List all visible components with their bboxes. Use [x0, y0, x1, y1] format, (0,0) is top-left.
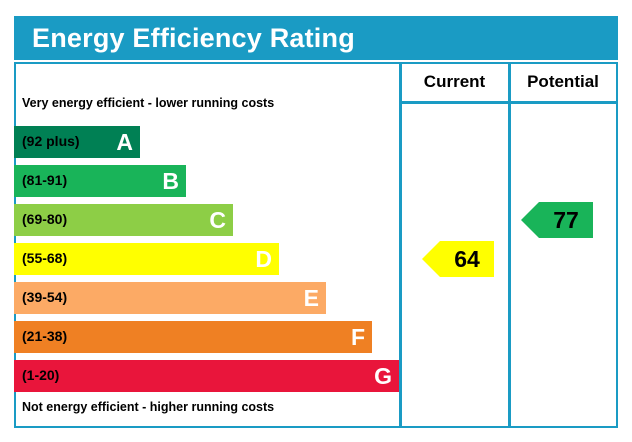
potential-rating-marker: 77 [521, 202, 593, 238]
band-letter-c: C [209, 205, 226, 235]
chart-title-bar: Energy Efficiency Rating [14, 16, 618, 60]
band-row-a: (92 plus) A [14, 126, 140, 158]
potential-rating-value: 77 [539, 202, 593, 238]
column-header-divider [399, 101, 618, 104]
energy-efficiency-rating-chart: Energy Efficiency Rating Current Potenti… [0, 0, 632, 442]
column-divider-current [399, 62, 402, 428]
band-range-c: (69-80) [22, 211, 67, 227]
column-header-current: Current [401, 72, 508, 92]
current-marker-arrow-icon [422, 241, 440, 277]
band-range-e: (39-54) [22, 289, 67, 305]
band-range-f: (21-38) [22, 328, 67, 344]
caption-top: Very energy efficient - lower running co… [22, 96, 274, 110]
band-range-b: (81-91) [22, 172, 67, 188]
band-row-d: (55-68) D [14, 243, 279, 275]
band-letter-f: F [351, 322, 365, 352]
column-divider-potential [508, 62, 511, 428]
band-row-e: (39-54) E [14, 282, 326, 314]
potential-marker-arrow-icon [521, 202, 539, 238]
column-header-potential: Potential [510, 72, 616, 92]
band-row-f: (21-38) F [14, 321, 372, 353]
band-range-g: (1-20) [22, 367, 59, 383]
band-range-d: (55-68) [22, 250, 67, 266]
page-title: Energy Efficiency Rating [32, 22, 355, 54]
band-row-b: (81-91) B [14, 165, 186, 197]
band-letter-a: A [116, 127, 133, 157]
band-row-g: (1-20) G [14, 360, 399, 392]
band-letter-e: E [304, 283, 319, 313]
band-letter-b: B [162, 166, 179, 196]
band-letter-g: G [374, 361, 392, 391]
band-letter-d: D [255, 244, 272, 274]
current-rating-marker: 64 [422, 241, 494, 277]
current-rating-value: 64 [440, 241, 494, 277]
caption-bottom: Not energy efficient - higher running co… [22, 400, 274, 414]
band-range-a: (92 plus) [22, 133, 80, 149]
band-row-c: (69-80) C [14, 204, 233, 236]
